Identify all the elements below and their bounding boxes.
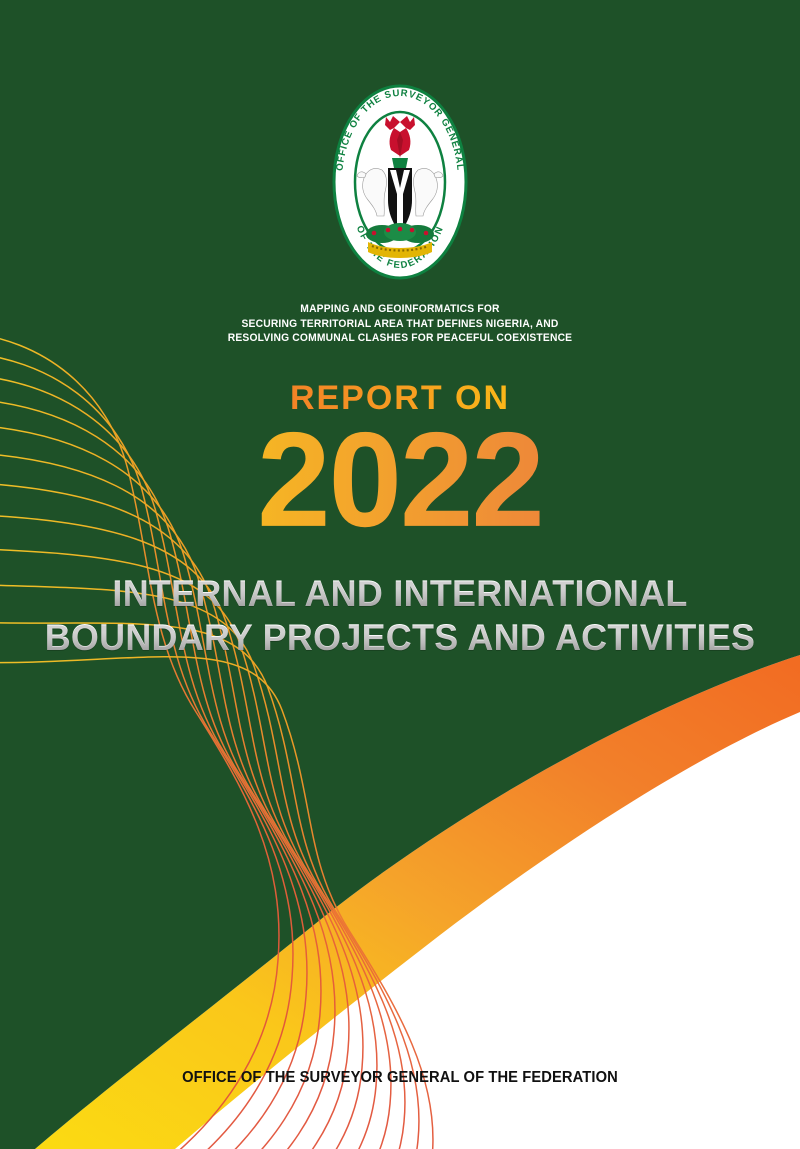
tagline: MAPPING AND GEOINFORMATICS FOR SECURING … xyxy=(32,302,768,346)
report-cover-page: OFFICE OF THE SURVEYOR GENERAL OF THE FE… xyxy=(0,0,800,1149)
report-year: 2022 xyxy=(0,409,800,552)
green-wreath xyxy=(366,223,434,243)
tagline-line-1: MAPPING AND GEOINFORMATICS FOR xyxy=(32,302,768,317)
seal-container: OFFICE OF THE SURVEYOR GENERAL OF THE FE… xyxy=(0,82,800,282)
tagline-line-2: SECURING TERRITORIAL AREA THAT DEFINES N… xyxy=(32,317,768,332)
page-title-line-2: BOUNDARY PROJECTS AND ACTIVITIES xyxy=(12,616,788,660)
surveyor-general-seal: OFFICE OF THE SURVEYOR GENERAL OF THE FE… xyxy=(330,82,470,282)
eagle-crest-base xyxy=(392,158,408,168)
page-title-line-1: INTERNAL AND INTERNATIONAL xyxy=(12,572,788,616)
footer-organisation: OFFICE OF THE SURVEYOR GENERAL OF THE FE… xyxy=(20,1069,780,1087)
tagline-line-3: RESOLVING COMMUNAL CLASHES FOR PEACEFUL … xyxy=(32,331,768,346)
page-title: INTERNAL AND INTERNATIONAL BOUNDARY PROJ… xyxy=(12,572,788,660)
